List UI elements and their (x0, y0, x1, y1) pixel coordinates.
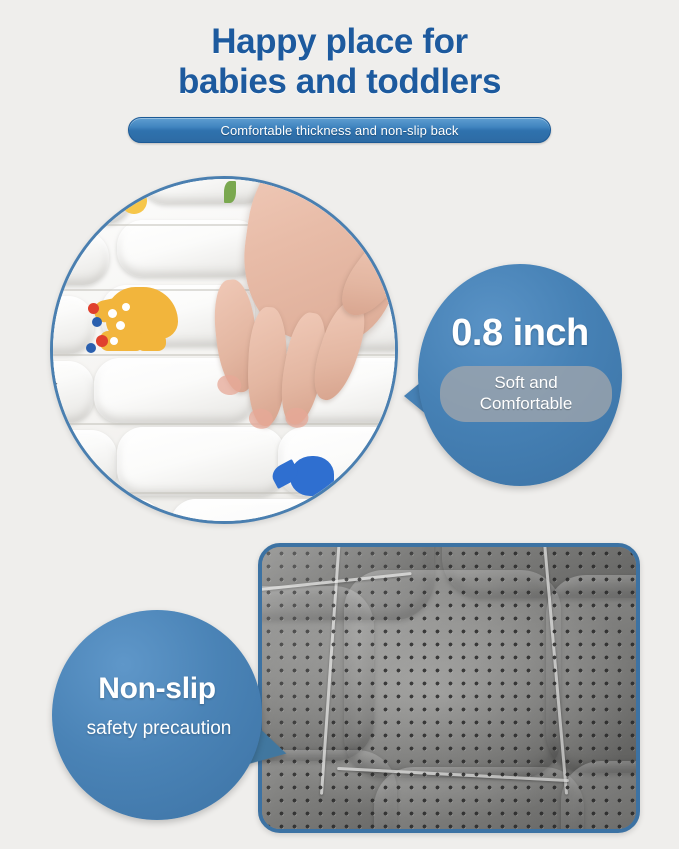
nonslip-subtitle: safety precaution (52, 718, 266, 740)
bubble-background (52, 610, 262, 820)
subtitle-text: Comfortable thickness and non-slip back (220, 123, 458, 138)
nonslip-dots-texture (262, 547, 636, 829)
grip-scene (262, 547, 636, 829)
subtitle-banner: Comfortable thickness and non-slip back (128, 117, 551, 143)
sun-motif (105, 178, 174, 239)
mattress-scene (50, 176, 398, 524)
title-line-1: Happy place for (0, 22, 679, 62)
thickness-badge: 0.8 inch Soft and Comfortable (404, 264, 622, 486)
page-title: Happy place for babies and toddlers (0, 22, 679, 102)
header: Happy place for babies and toddlers Comf… (0, 0, 679, 160)
title-line-2: babies and toddlers (0, 62, 679, 102)
subpill-line-1: Soft and (446, 372, 606, 393)
thickness-value: 0.8 inch (418, 312, 622, 355)
subpill-line-2: Comfortable (446, 393, 606, 414)
whale-motif (270, 450, 370, 524)
mattress-press-photo (50, 176, 398, 524)
thickness-subpill: Soft and Comfortable (440, 366, 612, 422)
hand (190, 176, 398, 431)
nonslip-badge: Non-slip safety precaution (52, 610, 287, 820)
nonslip-title: Non-slip (52, 672, 262, 706)
leaf-motif (132, 522, 143, 524)
nonslip-fabric-photo (258, 543, 640, 833)
